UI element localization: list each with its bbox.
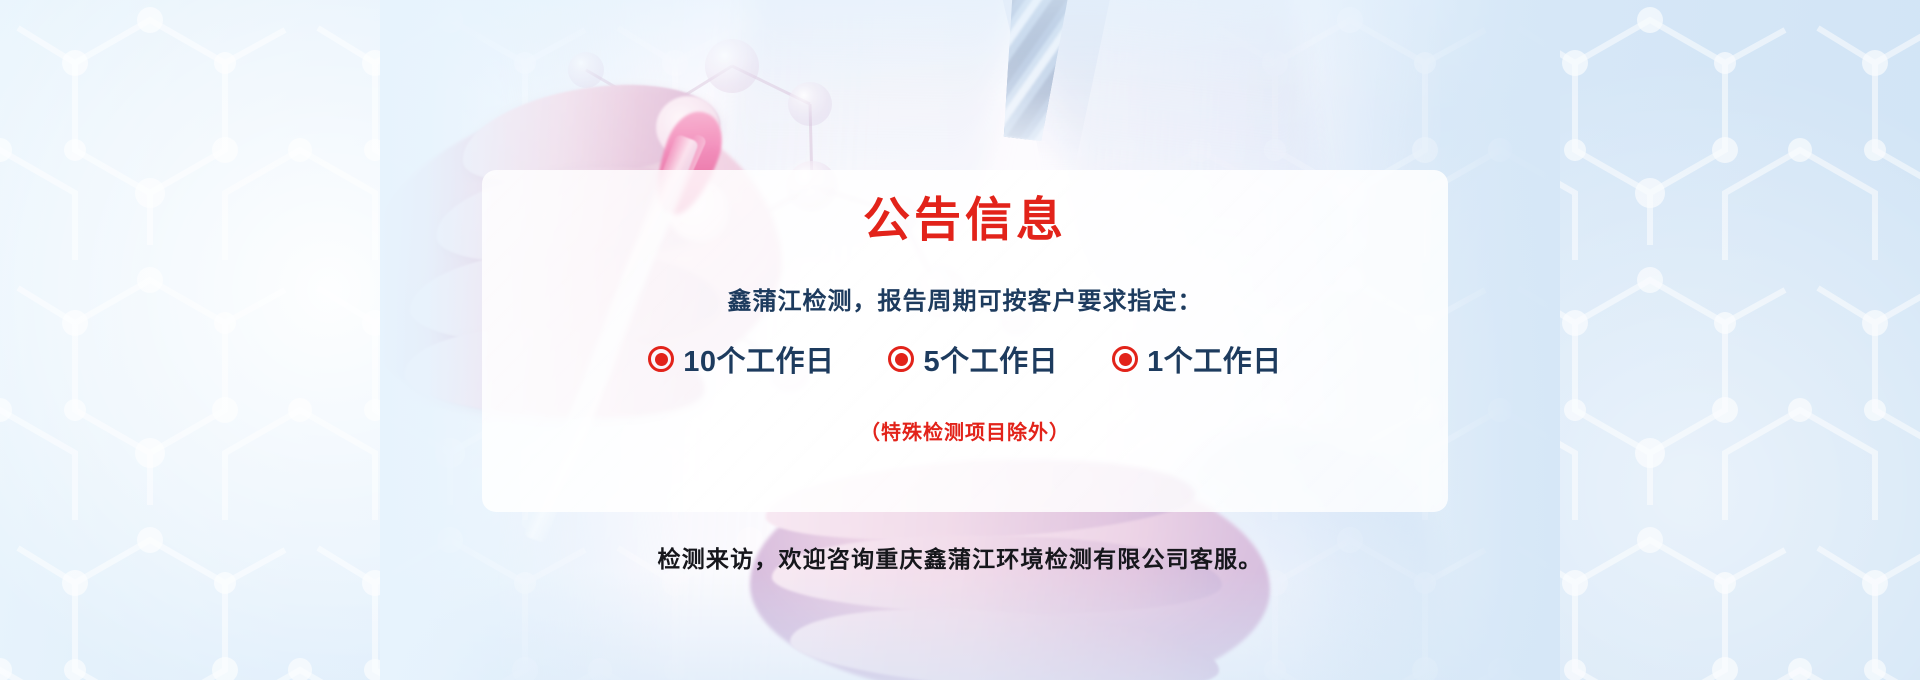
radio-filled-icon [888,346,914,372]
announcement-card: 公告信息 鑫蒲江检测，报告周期可按客户要求指定： 10个工作日 5个工作日 1个… [482,170,1448,512]
footer-contact-text: 检测来访，欢迎咨询重庆鑫蒲江环境检测有限公司客服。 [0,540,1920,574]
option-item[interactable]: 5个工作日 [888,338,1058,380]
page-title: 公告信息 [863,192,1067,247]
radio-filled-icon [648,346,674,372]
option-label: 10个工作日 [683,338,834,380]
option-item[interactable]: 1个工作日 [1112,338,1282,380]
subtitle-text: 鑫蒲江检测，报告周期可按客户要求指定： [728,281,1203,316]
option-label: 5个工作日 [923,338,1058,380]
exception-note: （特殊检测项目除外） [860,416,1070,445]
option-item[interactable]: 10个工作日 [648,338,834,380]
turnaround-options: 10个工作日 5个工作日 1个工作日 [648,338,1282,380]
option-label: 1个工作日 [1147,338,1282,380]
radio-filled-icon [1112,346,1138,372]
announcement-banner: 公告信息 鑫蒲江检测，报告周期可按客户要求指定： 10个工作日 5个工作日 1个… [0,0,1920,680]
